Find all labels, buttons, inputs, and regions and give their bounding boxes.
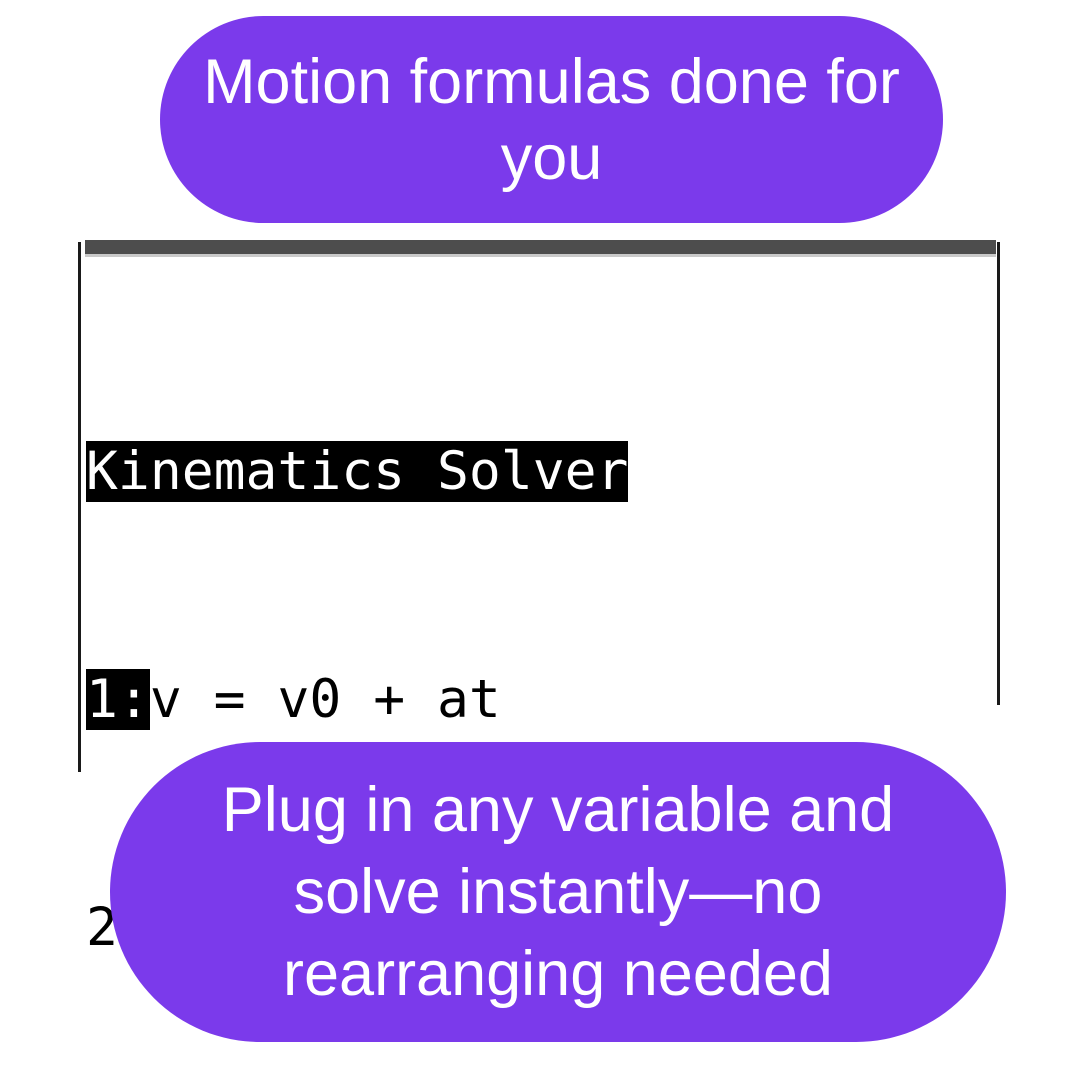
callout-bubble-bottom: Plug in any variable and solve instantly…: [110, 742, 1006, 1042]
menu-title: Kinematics Solver: [86, 441, 628, 502]
calculator-title-bar: [85, 240, 996, 257]
screen-border-left: [78, 242, 81, 772]
callout-bubble-top: Motion formulas done for you: [160, 16, 943, 223]
callout-top-text: Motion formulas done for you: [202, 44, 901, 196]
callout-bottom-text: Plug in any variable and solve instantly…: [158, 769, 958, 1015]
menu-item-1-label: v = v0 + at: [150, 669, 501, 730]
menu-item-1[interactable]: 1:v = v0 + at: [86, 671, 996, 728]
screen-border-right: [997, 242, 1000, 705]
screenshot-canvas: Motion formulas done for you Kinematics …: [0, 0, 1080, 1080]
menu-item-1-number: 1:: [86, 669, 150, 730]
menu-title-line: Kinematics Solver: [86, 443, 996, 500]
